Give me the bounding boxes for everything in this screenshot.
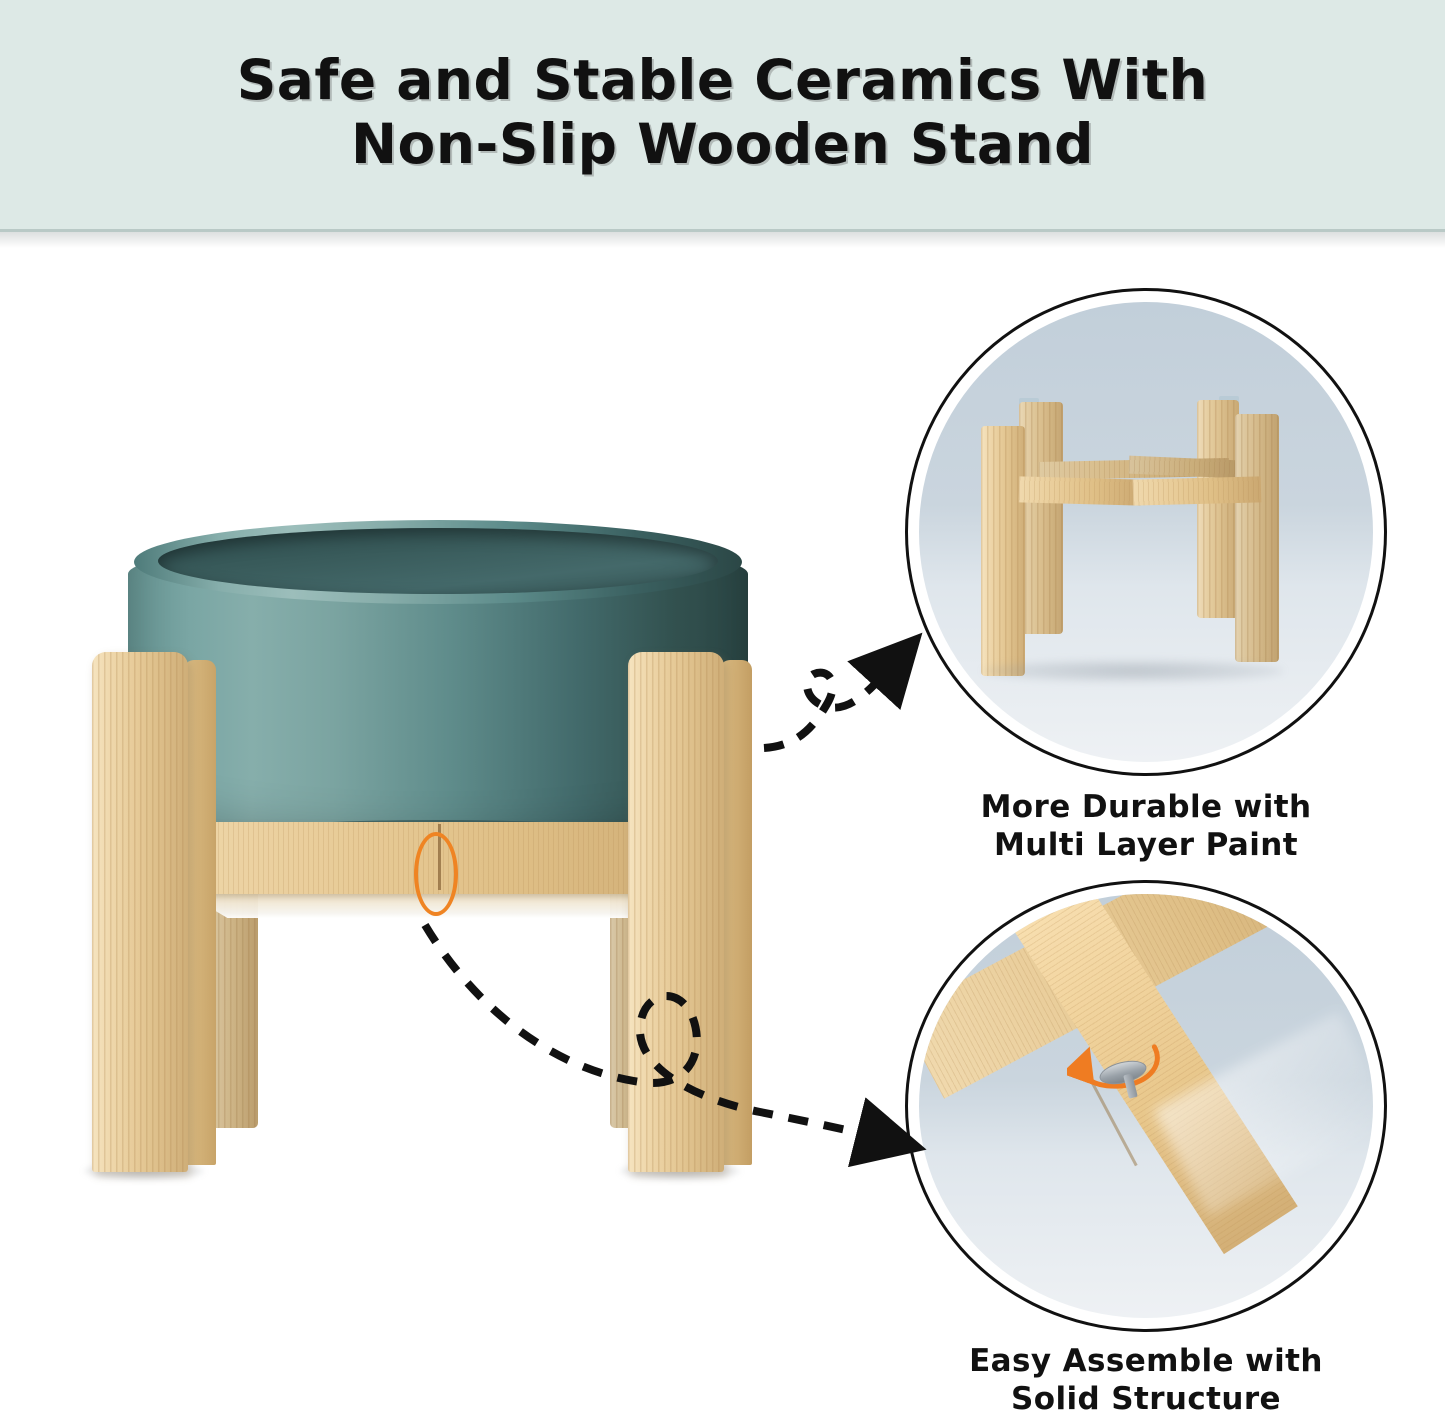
stand-front-leg-left-side xyxy=(184,660,216,1165)
product-infographic-page: Safe and Stable Ceramics With Non-Slip W… xyxy=(0,0,1445,1410)
callout-photo-durability xyxy=(919,302,1373,762)
callout1-leg-back-left xyxy=(1019,402,1063,634)
callout-assembly: Easy Assemble with Solid Structure xyxy=(905,880,1387,1332)
callout-caption-assembly: Easy Assemble with Solid Structure xyxy=(905,1342,1387,1410)
bowl-interior xyxy=(158,528,718,594)
callout1-floor-shadow xyxy=(983,660,1283,682)
header-drop-shadow xyxy=(0,232,1445,248)
main-product-photo xyxy=(40,420,840,1300)
callout1-leg-front-left xyxy=(981,426,1025,676)
callout1-leg-back-right xyxy=(1197,400,1239,618)
callout-photo-assembly xyxy=(919,894,1373,1318)
callout-caption-durability: More Durable with Multi Layer Paint xyxy=(905,788,1387,864)
stand-front-leg-left xyxy=(92,652,188,1172)
callout1-rail-front-right xyxy=(1133,476,1262,505)
page-title: Safe and Stable Ceramics With Non-Slip W… xyxy=(0,48,1445,176)
callout1-leg-front-right xyxy=(1235,414,1279,662)
callout1-rail-front-left xyxy=(1019,476,1142,505)
stand-front-leg-right-side xyxy=(720,660,752,1165)
stand-front-leg-right xyxy=(628,652,724,1172)
callout-durability: More Durable with Multi Layer Paint xyxy=(905,288,1387,776)
joint-highlight-marker xyxy=(414,832,458,916)
